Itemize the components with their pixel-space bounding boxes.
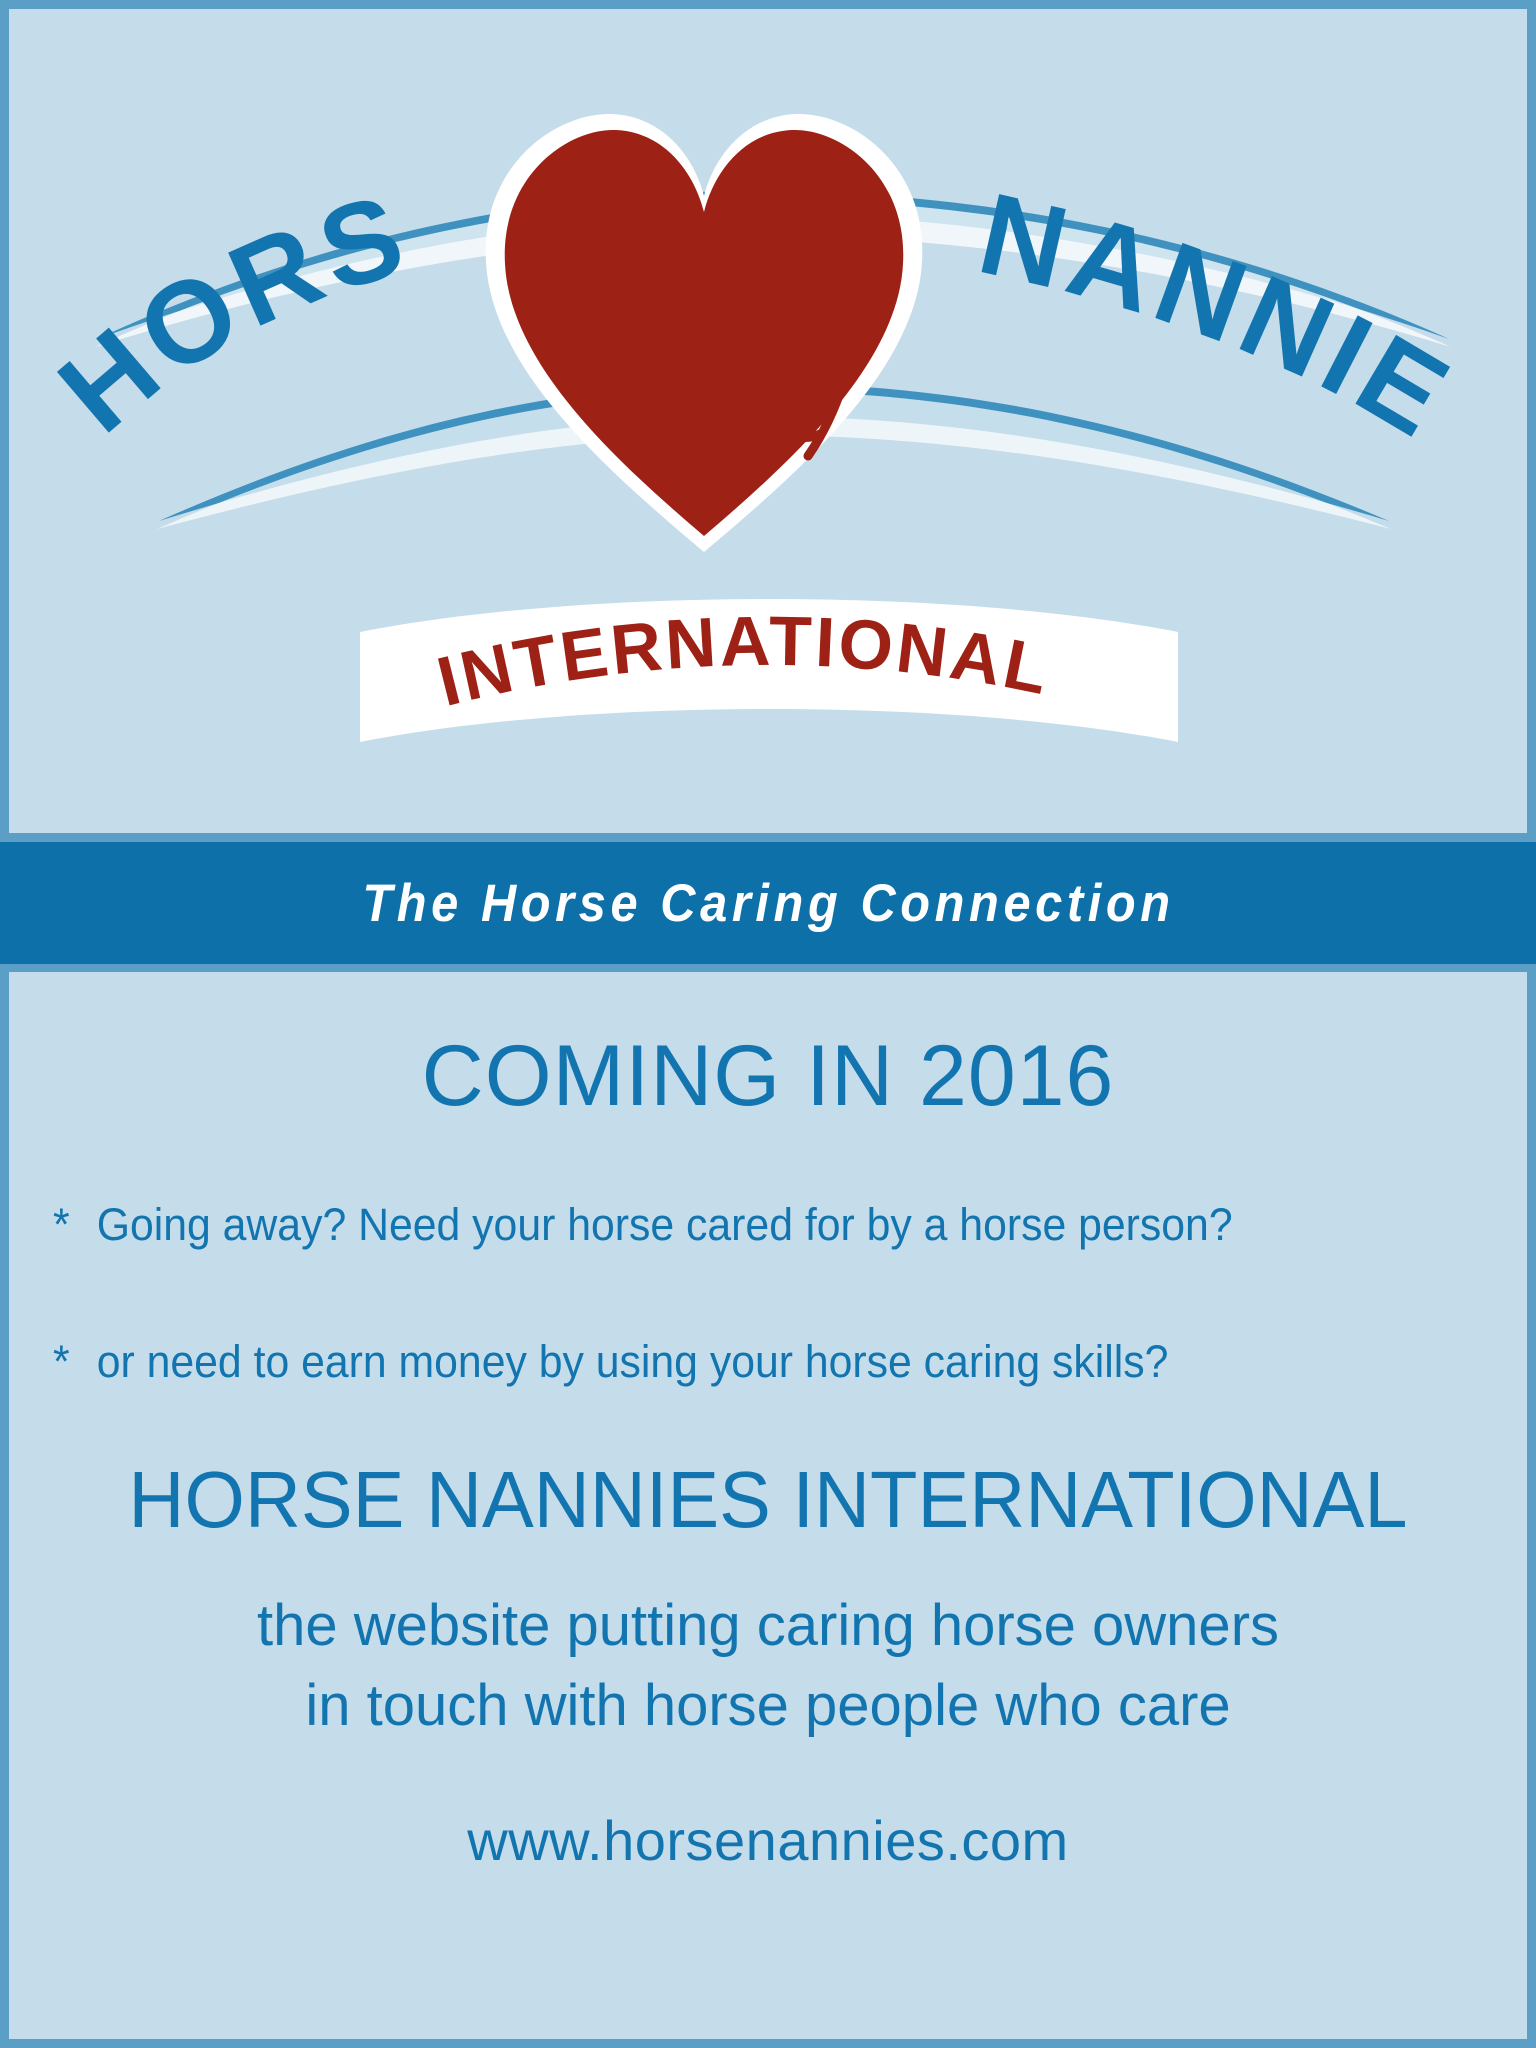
website-url[interactable]: www.horsenannies.com <box>9 1808 1527 1873</box>
wordmark-horse-text: HORSE <box>9 9 423 457</box>
tagline-line-2: in touch with horse people who care <box>9 1672 1527 1739</box>
list-item: *or need to earn money by using your hor… <box>53 1336 1412 1388</box>
tagline-bar: The Horse Caring Connection <box>0 842 1536 964</box>
poster: HORSE NANNIES <box>0 0 1536 2048</box>
bullet-text: or need to earn money by using your hors… <box>97 1336 1169 1387</box>
svg-text:HORSE: HORSE <box>9 9 423 457</box>
brand-headline: HORSE NANNIES INTERNATIONAL <box>32 1454 1504 1546</box>
tagline-line-1: the website putting caring horse owners <box>9 1592 1527 1659</box>
bullet-text: Going away? Need your horse cared for by… <box>97 1199 1233 1250</box>
horse-and-woman-heart-emblem-icon <box>464 104 944 554</box>
coming-soon-heading: COMING IN 2016 <box>9 1027 1527 1126</box>
logo-panel: HORSE NANNIES <box>9 9 1527 833</box>
tagline-text: The Horse Caring Connection <box>362 873 1174 934</box>
bullet-marker: * <box>53 1199 97 1251</box>
body-panel: COMING IN 2016 *Going away? Need your ho… <box>9 972 1527 2039</box>
bullet-marker: * <box>53 1336 97 1388</box>
international-banner: INTERNATIONAL <box>354 584 1184 744</box>
list-item: *Going away? Need your horse cared for b… <box>53 1199 1412 1251</box>
